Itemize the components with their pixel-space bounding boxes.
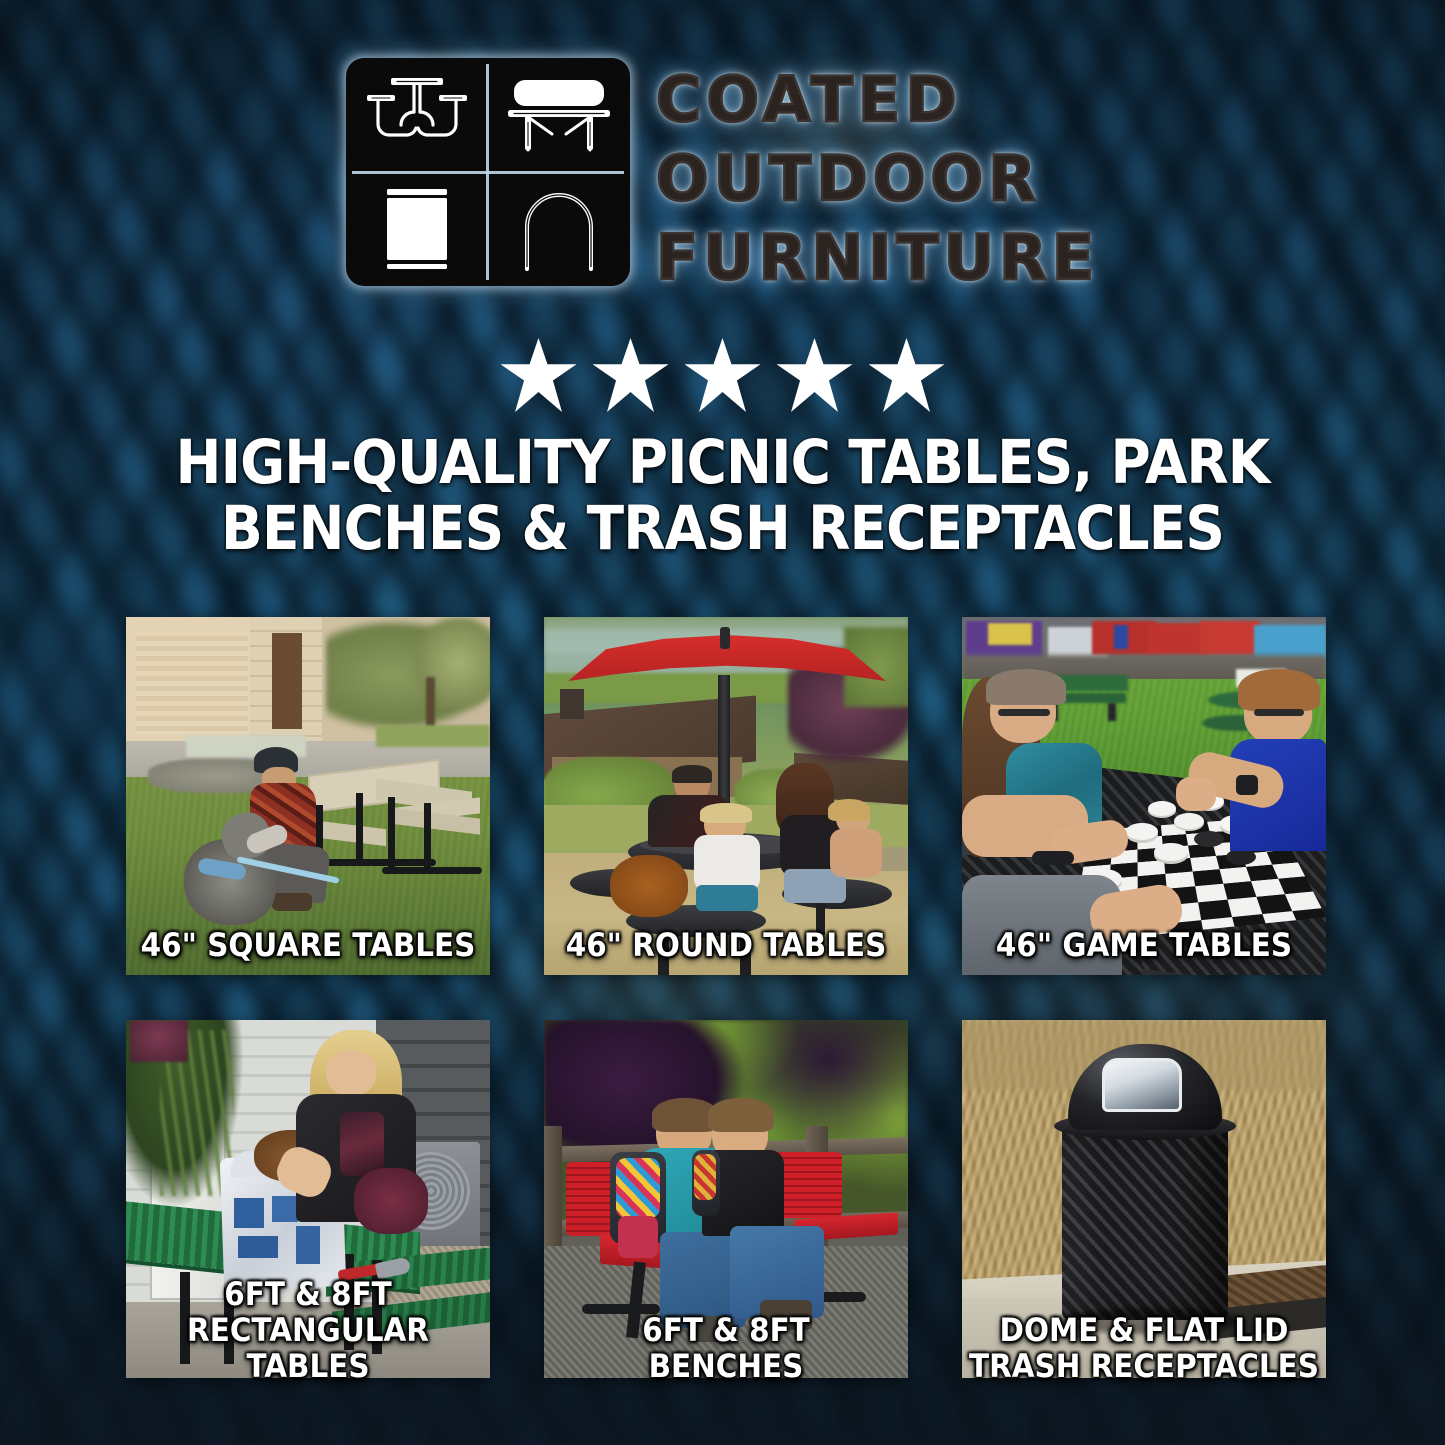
product-tile-benches[interactable]: 6FT & 8FT BENCHES bbox=[544, 1020, 908, 1378]
brand-name-line2: OUTDOOR bbox=[656, 139, 1041, 218]
brand-name-line3: FURNITURE bbox=[656, 218, 1099, 297]
page-title: HIGH-QUALITY PICNIC TABLES, PARK BENCHES… bbox=[126, 430, 1319, 562]
product-photo bbox=[126, 1020, 490, 1378]
brand-name-line1: COATED bbox=[656, 60, 962, 139]
picnic-table-side-icon bbox=[488, 58, 630, 172]
star-icon bbox=[685, 338, 761, 412]
brand-wordmark: COATED OUTDOOR FURNITURE bbox=[656, 58, 1099, 297]
product-tile-square-tables[interactable]: 46" SQUARE TABLES bbox=[126, 617, 490, 975]
picnic-table-front-icon bbox=[346, 58, 488, 172]
product-photo bbox=[126, 617, 490, 975]
star-icon bbox=[869, 338, 945, 412]
product-photo bbox=[544, 1020, 908, 1378]
product-tile-rectangular-tables[interactable]: 6FT & 8FT RECTANGULAR TABLES bbox=[126, 1020, 490, 1378]
marketing-poster: COATED OUTDOOR FURNITURE HIGH-QUALITY PI… bbox=[0, 0, 1445, 1445]
product-photo bbox=[962, 617, 1326, 975]
product-tile-game-tables[interactable]: 46" GAME TABLES bbox=[962, 617, 1326, 975]
product-grid: 46" SQUARE TABLES bbox=[126, 617, 1325, 1378]
headline-line-2: BENCHES & TRASH RECEPTACLES bbox=[126, 496, 1319, 562]
product-tile-round-tables[interactable]: 46" ROUND TABLES bbox=[544, 617, 908, 975]
product-photo bbox=[544, 617, 908, 975]
headline-line-1: HIGH-QUALITY PICNIC TABLES, PARK bbox=[176, 427, 1270, 498]
bike-rack-arch-icon bbox=[488, 172, 630, 286]
star-icon bbox=[501, 338, 577, 412]
star-icon bbox=[777, 338, 853, 412]
star-icon bbox=[593, 338, 669, 412]
brand-logo: COATED OUTDOOR FURNITURE bbox=[0, 58, 1445, 297]
four-quadrant-furniture-icon bbox=[346, 58, 630, 286]
star-rating bbox=[0, 338, 1445, 412]
product-photo bbox=[962, 1020, 1326, 1378]
trash-receptacle-icon bbox=[346, 172, 488, 286]
product-tile-trash-receptacles[interactable]: DOME & FLAT LID TRASH RECEPTACLES bbox=[962, 1020, 1326, 1378]
